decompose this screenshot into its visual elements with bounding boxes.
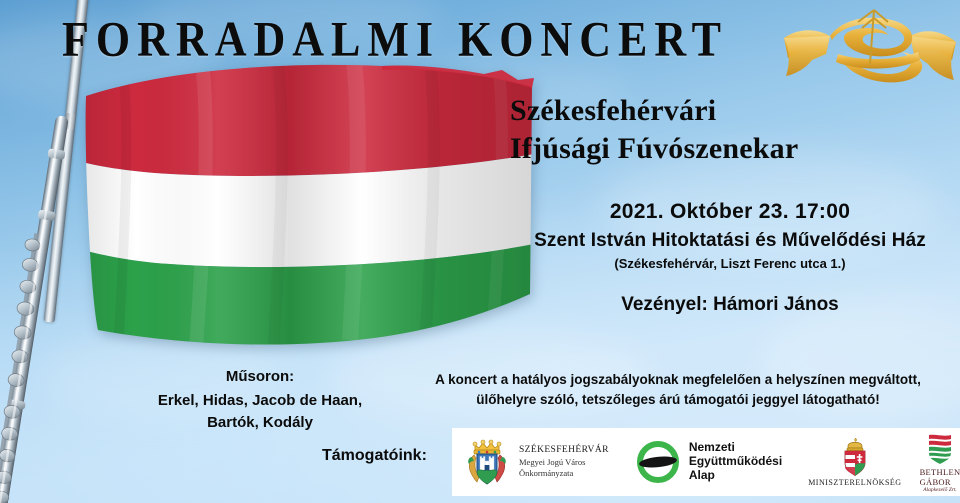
szekesfehervar-coat-of-arms-icon [466, 437, 512, 487]
sponsor-logo-szekesfehervar: SZÉKESFEHÉRVÁR Megyei Jogú Város Önkormá… [466, 428, 609, 496]
ticket-disclaimer-line1: A koncert a hatályos jogszabályoknak meg… [398, 370, 958, 390]
programme-block: Műsoron: Erkel, Hidas, Jacob de Haan, Ba… [130, 366, 390, 433]
ensemble-name: Székesfehérvári Ifjúsági Fúvószenekar [510, 92, 950, 169]
hungarian-flag-image [82, 62, 534, 352]
hungarian-coat-of-arms-icon [838, 437, 872, 477]
sponsor-logo-bethlen-gabor: BETHLEN GÁBOR Alapkezelő Zrt. [920, 428, 960, 496]
sponsor-logo-band: SZÉKESFEHÉRVÁR Megyei Jogú Város Önkormá… [452, 428, 960, 496]
conductor-line: Vezényel: Hámori János [500, 294, 960, 316]
nea-logo-text: Nemzeti Együttműködési Alap [689, 441, 782, 482]
ensemble-name-line2: Ifjúsági Fúvószenekar [510, 130, 950, 168]
bethlen-gabor-line2: Alapkezelő Zrt. [923, 487, 957, 493]
event-address: (Székesfehérvár, Liszt Ferenc utca 1.) [500, 256, 960, 271]
programme-line2: Bartók, Kodály [130, 412, 390, 434]
page-title: FORRADALMI KONCERT [0, 11, 790, 68]
nea-line3: Alap [689, 469, 782, 483]
szekesfehervar-line1: SZÉKESFEHÉRVÁR [519, 445, 609, 457]
flute-image [0, 113, 80, 503]
szekesfehervar-line2: Megyei Jogú Város [519, 457, 609, 468]
event-details: 2021. Október 23. 17:00 Szent István Hit… [500, 200, 960, 271]
miniszterelnokseg-label: MINISZTERELNÖKSÉG [808, 478, 901, 487]
sponsors-label: Támogatóink: [322, 447, 427, 465]
szekesfehervar-line3: Önkormányzata [519, 468, 609, 479]
szekesfehervar-logo-text: SZÉKESFEHÉRVÁR Megyei Jogú Város Önkormá… [519, 445, 609, 478]
nea-line1: Nemzeti [689, 441, 782, 455]
nea-line2: Együttműködési [689, 455, 782, 469]
ensemble-name-line1: Székesfehérvári [510, 92, 950, 130]
concert-poster: FORRADALMI KONCERT Székesfehérvári Ifjús… [0, 0, 960, 503]
ticket-disclaimer-line2: ülőhelyre szóló, tetszőleges árú támogat… [398, 390, 958, 410]
event-date: 2021. Október 23. 17:00 [500, 200, 960, 224]
event-venue: Szent István Hitoktatási és Művelődési H… [500, 230, 960, 252]
sponsor-logo-nea: Nemzeti Együttműködési Alap [635, 428, 782, 496]
nea-circle-icon [635, 439, 681, 485]
bethlen-gabor-shield-icon [924, 431, 956, 465]
bethlen-gabor-line1: BETHLEN GÁBOR [920, 467, 960, 487]
sponsor-logo-miniszterelnokseg: MINISZTERELNÖKSÉG [808, 428, 901, 496]
french-horn-icon [782, 2, 958, 102]
ticket-disclaimer: A koncert a hatályos jogszabályoknak meg… [398, 370, 958, 411]
programme-line1: Erkel, Hidas, Jacob de Haan, [130, 390, 390, 412]
programme-label: Műsoron: [130, 366, 390, 388]
